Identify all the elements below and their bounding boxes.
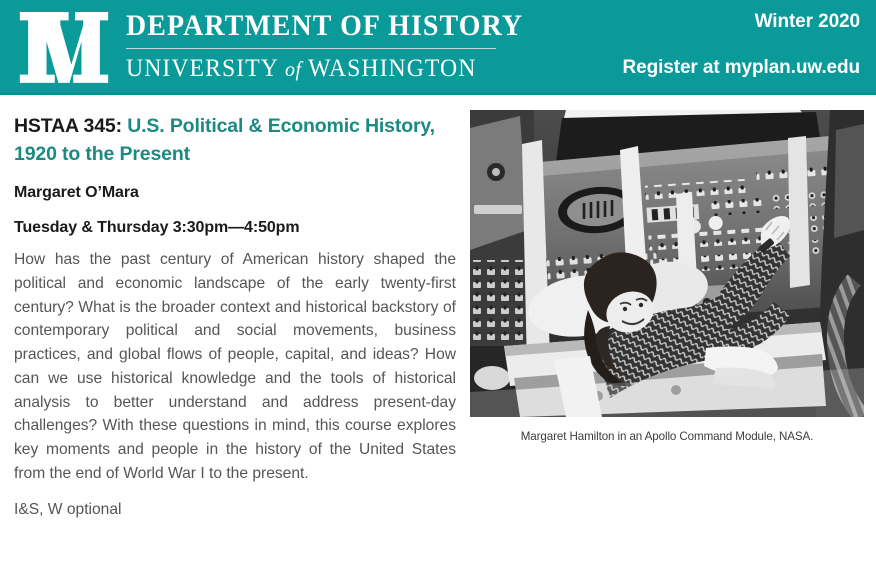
- page-content: HSTAA 345: U.S. Political & Economic His…: [0, 95, 876, 567]
- course-photo: [470, 110, 864, 417]
- course-info-column: HSTAA 345: U.S. Political & Economic His…: [14, 113, 456, 519]
- photo-column: Margaret Hamilton in an Apollo Command M…: [470, 110, 864, 443]
- uw-wordmark: DEPARTMENT OF HISTORY UNIVERSITY of WASH…: [126, 6, 553, 81]
- university-connector: of: [285, 57, 301, 81]
- university-prefix: UNIVERSITY: [126, 55, 278, 82]
- term-label: Winter 2020: [622, 12, 860, 33]
- uw-brand-block: DEPARTMENT OF HISTORY UNIVERSITY of WASH…: [18, 6, 553, 88]
- meeting-time: Tuesday & Thursday 3:30pm—4:50pm: [14, 219, 456, 237]
- course-code: HSTAA 345:: [14, 115, 122, 137]
- photo-caption: Margaret Hamilton in an Apollo Command M…: [470, 430, 864, 443]
- header-right-block: Winter 2020 Register at myplan.uw.edu: [622, 12, 860, 79]
- instructor-name: Margaret O’Mara: [14, 184, 456, 202]
- course-title-heading: HSTAA 345: U.S. Political & Economic His…: [14, 113, 456, 168]
- credit-requirements-note: I&S, W optional: [14, 501, 456, 519]
- university-suffix: WASHINGTON: [308, 55, 476, 82]
- university-name: UNIVERSITY of WASHINGTON: [126, 56, 532, 81]
- wordmark-divider: [126, 48, 496, 49]
- page-header: DEPARTMENT OF HISTORY UNIVERSITY of WASH…: [0, 0, 876, 95]
- register-link[interactable]: Register at myplan.uw.edu: [622, 58, 860, 79]
- department-name: DEPARTMENT OF HISTORY: [126, 11, 523, 41]
- course-description: How has the past century of American his…: [14, 248, 456, 485]
- apollo-module-photo-graphic: [470, 110, 864, 417]
- uw-w-logo-icon: [18, 6, 110, 88]
